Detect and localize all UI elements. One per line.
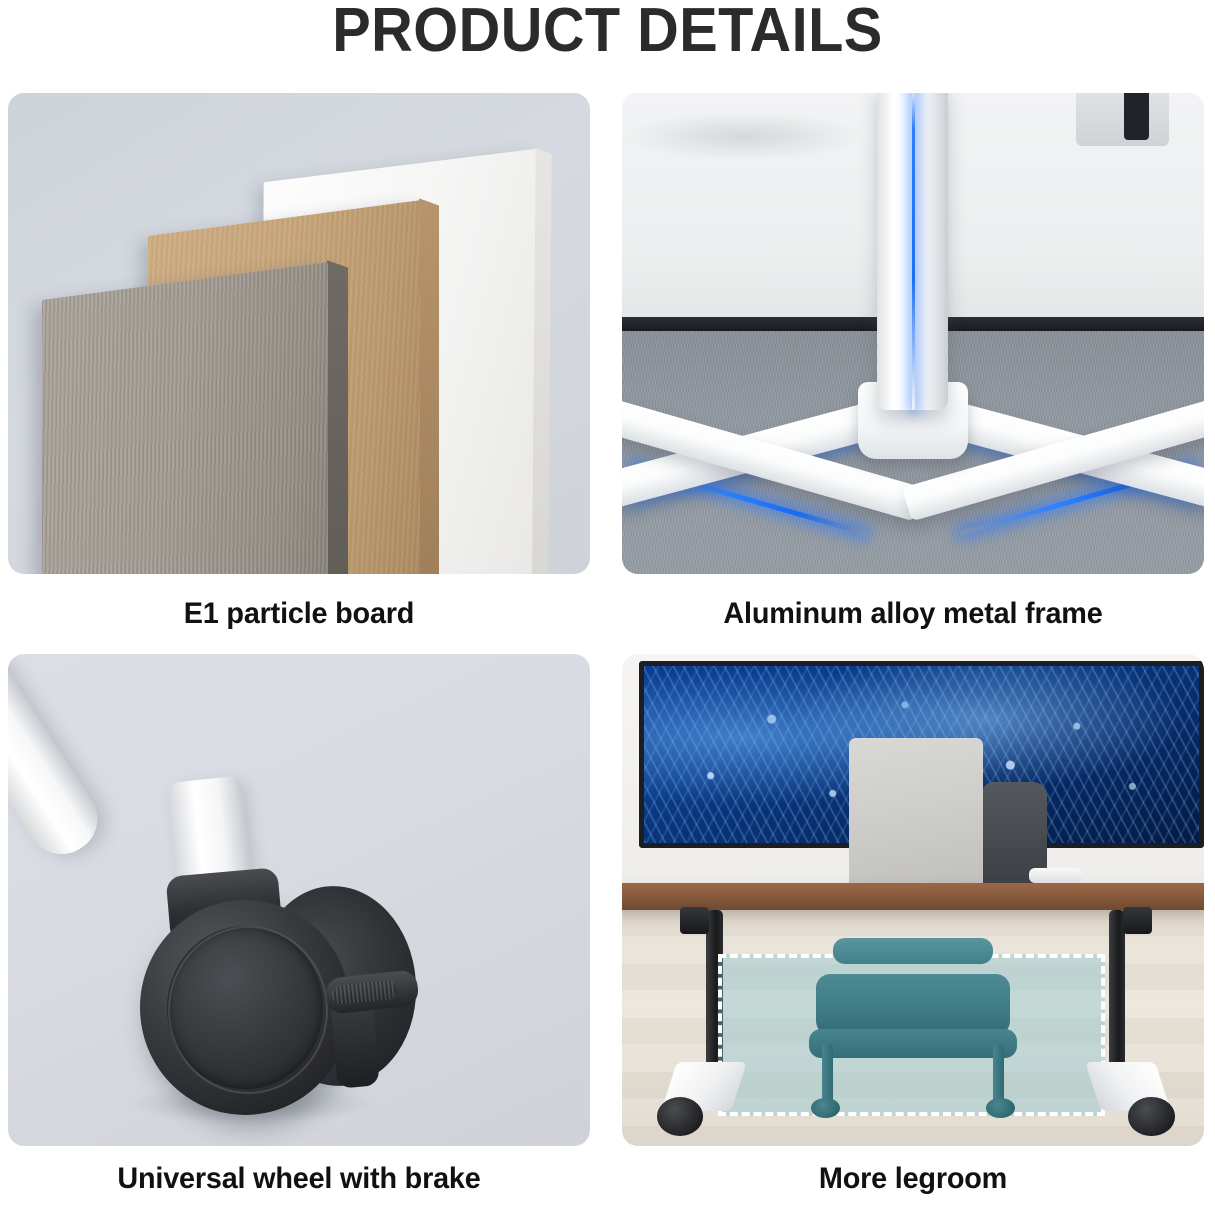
oak-board-edge	[419, 198, 439, 574]
frame-vertical-column	[877, 93, 948, 410]
caster-wheel-ring	[168, 926, 328, 1094]
grey-board-edge	[327, 260, 348, 574]
chair-caster-right	[986, 1098, 1015, 1118]
wall-shadow	[622, 111, 866, 161]
feature-cell-universal-wheel: Universal wheel with brake	[8, 654, 590, 1212]
caption-aluminum-frame: Aluminum alloy metal frame	[634, 574, 1193, 654]
universal-wheel-image	[8, 654, 590, 1146]
caption-universal-wheel: Universal wheel with brake	[20, 1146, 579, 1212]
desk-caster-right	[1128, 1097, 1175, 1136]
chair-top-rail	[833, 938, 992, 963]
column-blue-highlight	[912, 93, 915, 410]
more-legroom-image	[622, 654, 1204, 1146]
grey-board-sample	[42, 262, 328, 574]
desk-bracket-left	[680, 907, 709, 934]
table-leg-upper	[8, 654, 110, 867]
feature-cell-aluminum-frame: Aluminum alloy metal frame	[622, 93, 1204, 654]
desk-bracket-right	[1123, 907, 1152, 934]
desk-accessory	[1029, 868, 1081, 883]
chair-backrest	[816, 974, 1011, 1034]
feature-cell-more-legroom: More legroom	[622, 654, 1204, 1212]
wall-mounted-object	[1076, 93, 1169, 146]
chair-seat	[809, 1029, 1017, 1058]
particle-board-image	[8, 93, 590, 574]
laptop	[849, 738, 983, 891]
aluminum-frame-image	[622, 93, 1204, 574]
feature-cell-particle-board: E1 particle board	[8, 93, 590, 654]
page-title: PRODUCT DETAILS	[43, 0, 1173, 66]
chair-caster-left	[811, 1098, 840, 1118]
caption-more-legroom: More legroom	[634, 1146, 1193, 1212]
product-details-grid: E1 particle board Aluminum alloy metal f…	[8, 93, 1207, 1212]
desk-top	[622, 883, 1204, 911]
desk-leg-right	[1109, 910, 1126, 1072]
office-chair	[802, 934, 1023, 1116]
grey-board-face	[42, 262, 328, 574]
caption-particle-board: E1 particle board	[20, 574, 579, 654]
